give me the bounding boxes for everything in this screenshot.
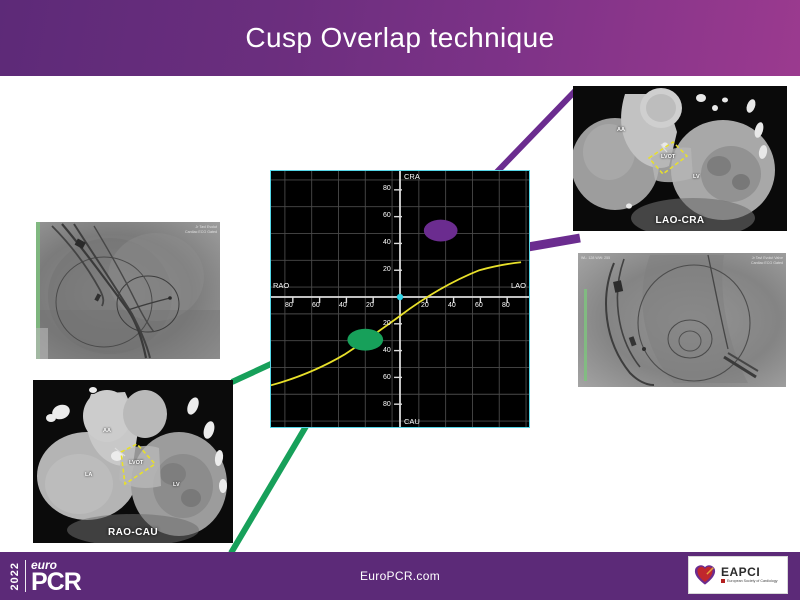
- ytick-cra-40: 40: [383, 239, 391, 246]
- fluoroscopy-image-lao-cra[interactable]: WL: 128 WW: 255 Jr TavI Evolut Valve Car…: [578, 253, 786, 387]
- fluoro-left-overlay: Jr TavI Evolut Cardiac ECG Gated: [185, 225, 217, 236]
- ct-rao-cau-label-la: LA: [85, 472, 92, 478]
- ct-rao-cau-label-aa: AA: [103, 428, 111, 434]
- ct-lao-cra-caption: LAO-CRA: [573, 215, 787, 226]
- ytick-cau-20: 20: [383, 320, 391, 327]
- ytick-cau-60: 60: [383, 374, 391, 381]
- fluoro-right-overlay-left: WL: 128 WW: 255: [581, 256, 610, 261]
- ct-lao-cra-label-lv: LV: [693, 174, 700, 180]
- axis-label-lao: LAO: [511, 281, 526, 290]
- ct-rao-cau-label-lv: LV: [173, 482, 180, 488]
- xtick-rao-60: 60: [312, 302, 320, 309]
- ct-rao-cau-caption: RAO-CAU: [33, 527, 233, 538]
- xtick-rao-80: 80: [285, 302, 293, 309]
- logo-pcr-word: PCR: [31, 572, 81, 593]
- page-title: Cusp Overlap technique: [0, 22, 800, 54]
- ytick-cra-20: 20: [383, 266, 391, 273]
- ytick-cau-40: 40: [383, 347, 391, 354]
- xtick-rao-40: 40: [339, 302, 347, 309]
- xtick-lao-80: 80: [502, 302, 510, 309]
- slide-header: Cusp Overlap technique: [0, 0, 800, 76]
- xtick-lao-40: 40: [448, 302, 456, 309]
- logo-year: 2022: [10, 562, 21, 590]
- fluoroscopy-rao-cau-render: [36, 222, 220, 359]
- ct-lao-cra-render: [573, 86, 787, 231]
- ct-image-rao-cau[interactable]: AA LA LVOT LV RAO-CAU: [33, 380, 233, 543]
- logo-divider: [25, 560, 26, 592]
- fluoroscopy-image-rao-cau[interactable]: Jr TavI Evolut Cardiac ECG Gated: [36, 222, 220, 359]
- fluoroscopy-lao-cra-render: [578, 253, 786, 387]
- ct-lao-cra-label-aa: AA: [617, 127, 625, 133]
- ytick-cau-80: 80: [383, 401, 391, 408]
- angulation-chart[interactable]: RAO LAO CRA CAU 80 60 40 20 20 40 60 80 …: [270, 170, 530, 428]
- ct-lao-cra-label-lvot: LVOT: [661, 154, 675, 160]
- xtick-lao-60: 60: [475, 302, 483, 309]
- ytick-cra-60: 60: [383, 212, 391, 219]
- ytick-cra-80: 80: [383, 185, 391, 192]
- axis-label-cra: CRA: [404, 172, 420, 181]
- xtick-lao-20: 20: [421, 302, 429, 309]
- europcr-logo: 2022 euro PCR: [10, 556, 115, 596]
- angulation-chart-plot: [271, 171, 529, 427]
- axis-label-rao: RAO: [273, 281, 289, 290]
- xtick-rao-20: 20: [366, 302, 374, 309]
- ct-rao-cau-label-lvot: LVOT: [129, 460, 143, 466]
- eapci-subtitle: European Society of Cardiology: [721, 579, 778, 584]
- axis-label-cau: CAU: [404, 417, 420, 426]
- footer-url: EuroPCR.com: [0, 569, 800, 583]
- heart-icon: [694, 564, 716, 586]
- eapci-name: EAPCI: [721, 566, 778, 579]
- fluoro-right-overlay: Jr TavI Evolut Valve Cardiac ECG Gated: [751, 256, 783, 267]
- slide-footer: EuroPCR.com: [0, 552, 800, 600]
- ct-image-lao-cra[interactable]: AA LVOT LV LAO-CRA: [573, 86, 787, 231]
- eapci-logo: EAPCI European Society of Cardiology: [688, 556, 788, 594]
